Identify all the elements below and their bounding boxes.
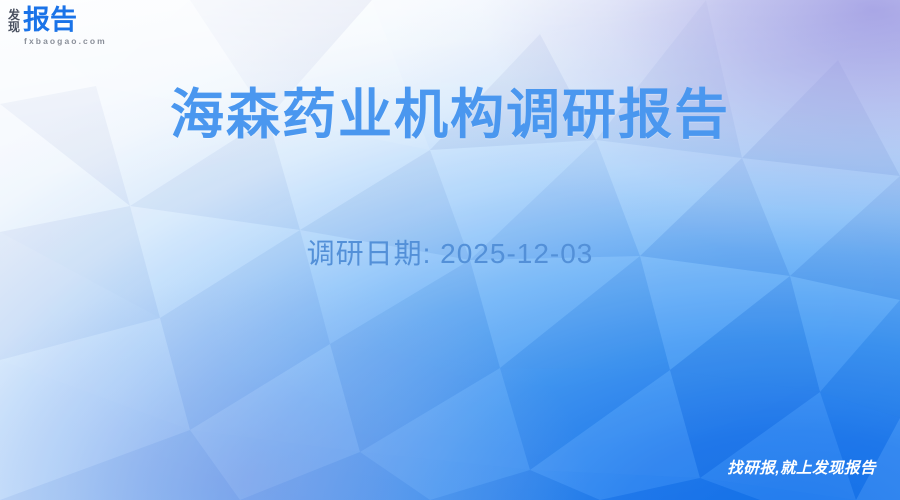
page-title: 海森药业机构调研报告 <box>0 84 900 148</box>
survey-date-label: 调研日期: 2025-12-03 <box>0 232 900 272</box>
logo-wordmark: 报告 <box>23 6 107 34</box>
site-logo[interactable]: 发 现 报告 fxbaogao.com <box>8 6 107 46</box>
report-cover-page: 发 现 报告 fxbaogao.com 海森药业机构调研报告 调研日期: 202… <box>0 0 900 500</box>
logo-url: fxbaogao.com <box>24 36 107 46</box>
footer-tagline: 找研报,就上发现报告 <box>727 456 876 478</box>
logo-mark-bottom-char: 现 <box>8 21 20 33</box>
logo-text-group: 报告 fxbaogao.com <box>23 6 107 46</box>
logo-mark: 发 现 <box>8 9 20 33</box>
cover-text-block: 海森药业机构调研报告 调研日期: 2025-12-03 <box>0 84 900 272</box>
